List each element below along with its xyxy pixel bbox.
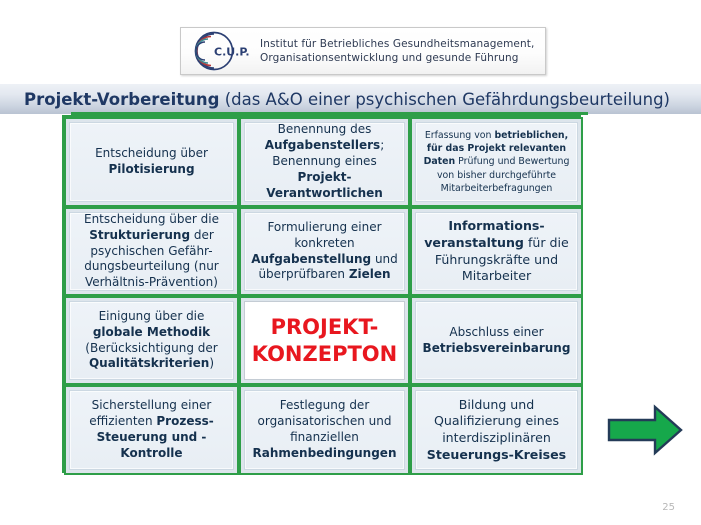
- grid-cell-bildung-steuerungskreis[interactable]: Bildung und Qualifizierung eines interdi…: [410, 385, 583, 475]
- cell-text: Formulierung einer konkreten Aufgabenste…: [250, 220, 399, 283]
- cell-inner: Abschluss einer Betriebsvereinbarung: [415, 301, 578, 380]
- grid-cell-einigung-globale-methodik[interactable]: Einigung über die globale Methodik (Berü…: [64, 296, 239, 385]
- slide-title-bar: Projekt-Vorbereitung (das A&O einer psyc…: [0, 84, 701, 114]
- cell-text: Entscheidung über die Strukturierung der…: [75, 212, 228, 291]
- grid-cell-entscheidung-strukturierung[interactable]: Entscheidung über die Strukturierung der…: [64, 207, 239, 296]
- grid-cell-benennung-aufgabensteller[interactable]: Benennung des Aufgabenstellers; Benennun…: [239, 117, 410, 207]
- projekt-konzepton-label: PROJEKT-KONZEPTON: [250, 314, 399, 367]
- cell-inner: Erfassung von betrieblichen, für das Pro…: [415, 122, 578, 202]
- cell-inner: Formulierung einer konkreten Aufgabenste…: [244, 212, 405, 291]
- grid-cell-entscheidung-pilotisierung[interactable]: Entscheidung überPilotisierung: [64, 117, 239, 207]
- grid-cell-erfassung-daten[interactable]: Erfassung von betrieblichen, für das Pro…: [410, 117, 583, 207]
- cell-inner: Entscheidung über die Strukturierung der…: [69, 212, 234, 291]
- grid-cell-abschluss-betriebsvereinbarung[interactable]: Abschluss einer Betriebsvereinbarung: [410, 296, 583, 385]
- logo-text-line-2: Organisationsentwicklung und gesunde Füh…: [260, 51, 534, 65]
- grid-cell-festlegung-rahmenbedingungen[interactable]: Festlegung der organisatorischen und fin…: [239, 385, 410, 475]
- cell-inner: Bildung und Qualifizierung eines interdi…: [415, 390, 578, 470]
- logo-text-line-1: Institut für Betriebliches Gesundheitsma…: [260, 37, 534, 51]
- page-number: 25: [662, 502, 675, 513]
- cell-text: Abschluss einer Betriebsvereinbarung: [421, 325, 572, 357]
- cell-text: Festlegung der organisatorischen und fin…: [250, 398, 399, 461]
- cell-inner: Benennung des Aufgabenstellers; Benennun…: [244, 122, 405, 202]
- cell-text: Einigung über die globale Methodik (Berü…: [75, 309, 228, 372]
- grid-cell-informationsveranstaltung[interactable]: Informations-veranstaltung für die Führu…: [410, 207, 583, 296]
- cup-concentric-arcs-logo: C.U.P.: [184, 30, 256, 72]
- cell-inner: Festlegung der organisatorischen und fin…: [244, 390, 405, 470]
- page-title-subtitle: (das A&O einer psychischen Gefährdungsbe…: [219, 90, 670, 109]
- logo-institute-text: Institut für Betriebliches Gesundheitsma…: [256, 37, 534, 65]
- page-title: Projekt-Vorbereitung (das A&O einer psyc…: [0, 90, 670, 109]
- cell-inner: Sicherstellung einer effizienten Prozess…: [69, 390, 234, 470]
- grid-cell-projekt-konzepton[interactable]: PROJEKT-KONZEPTON: [239, 296, 410, 385]
- cell-inner: Informations-veranstaltung für die Führu…: [415, 212, 578, 291]
- cell-inner: Entscheidung überPilotisierung: [69, 122, 234, 202]
- cell-text: Sicherstellung einer effizienten Prozess…: [75, 398, 228, 461]
- cell-inner: Einigung über die globale Methodik (Berü…: [69, 301, 234, 380]
- right-arrow-icon: [607, 404, 683, 456]
- process-grid: Entscheidung überPilotisierung Benennung…: [62, 115, 581, 473]
- cell-text: Informations-veranstaltung für die Führu…: [421, 218, 572, 284]
- logo-acronym: C.U.P.: [214, 46, 250, 59]
- cell-text: Erfassung von betrieblichen, für das Pro…: [421, 129, 572, 196]
- grid-cell-formulierung-aufgabenstellung[interactable]: Formulierung einer konkreten Aufgabenste…: [239, 207, 410, 296]
- cell-inner: PROJEKT-KONZEPTON: [244, 301, 405, 380]
- logo-banner: C.U.P. Institut für Betriebliches Gesund…: [180, 27, 546, 75]
- grid-cell-sicherstellung-prozesssteuerung[interactable]: Sicherstellung einer effizienten Prozess…: [64, 385, 239, 475]
- page-title-bold: Projekt-Vorbereitung: [24, 90, 219, 109]
- cell-text: Bildung und Qualifizierung eines interdi…: [421, 397, 572, 463]
- cell-text: Entscheidung überPilotisierung: [95, 146, 208, 178]
- cell-text: Benennung des Aufgabenstellers; Benennun…: [250, 122, 399, 201]
